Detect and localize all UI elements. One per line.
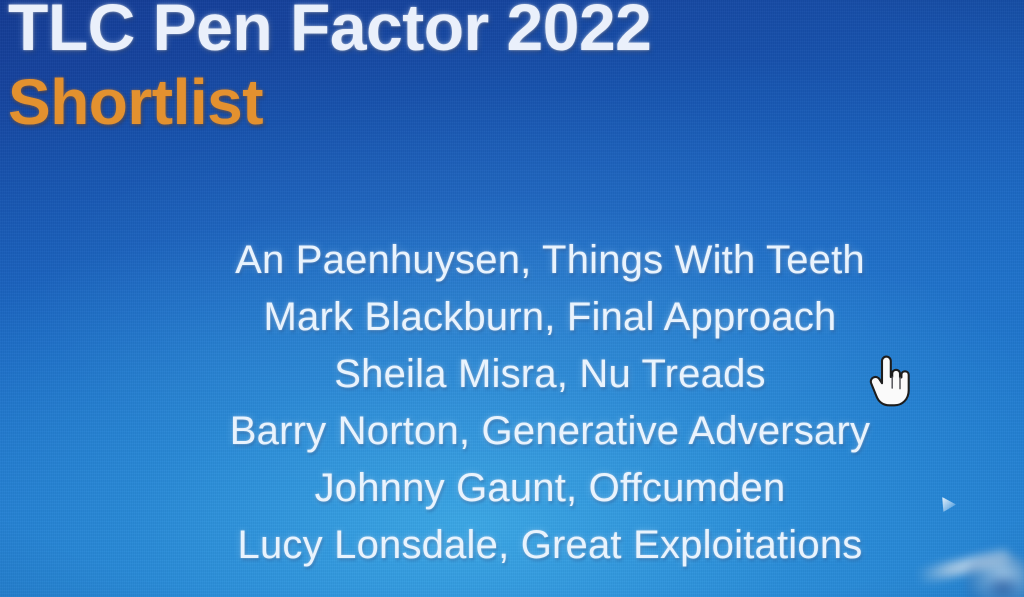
list-item: An Paenhuysen, Things With Teeth (180, 232, 920, 289)
shortlist-container: An Paenhuysen, Things With Teeth Mark Bl… (180, 232, 920, 574)
list-item: Mark Blackburn, Final Approach (180, 289, 920, 346)
list-item: Barry Norton, Generative Adversary (180, 403, 920, 460)
page-subtitle: Shortlist (8, 69, 651, 137)
pointing-hand-cursor-icon[interactable] (866, 355, 910, 407)
list-item: Sheila Misra, Nu Treads (180, 346, 920, 403)
slide-title-block: TLC Pen Factor 2022 Shortlist (8, 0, 651, 137)
list-item: Johnny Gaunt, Offcumden (180, 460, 920, 517)
list-item: Lucy Lonsdale, Great Exploitations (180, 517, 920, 574)
page-title: TLC Pen Factor 2022 (8, 0, 651, 63)
presentation-slide: TLC Pen Factor 2022 Shortlist An Paenhuy… (0, 0, 1024, 597)
